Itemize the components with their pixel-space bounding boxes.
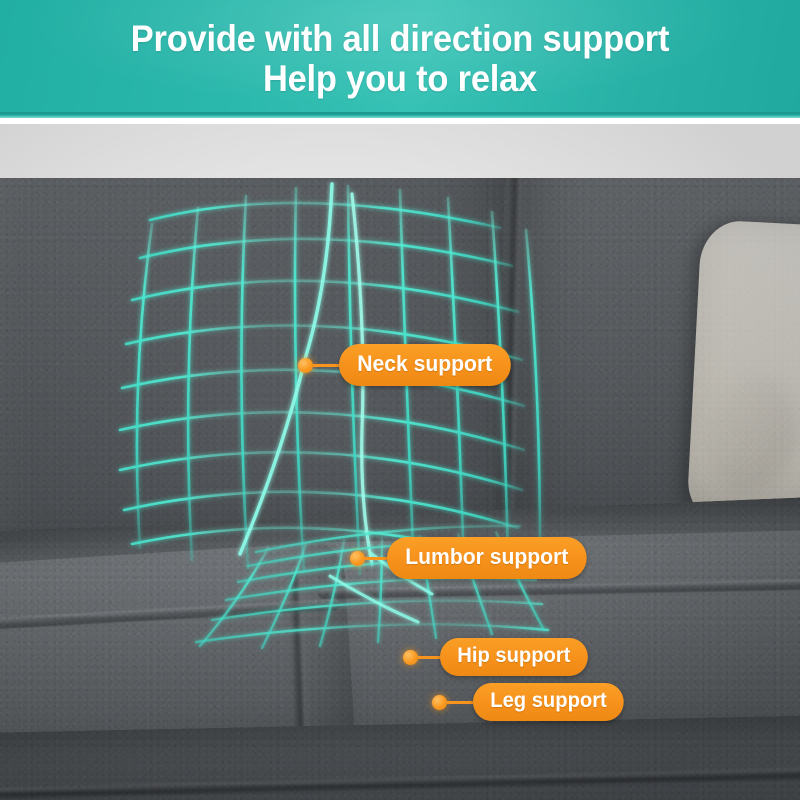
callout-leader-line: [418, 656, 440, 659]
banner-underline-rule: [0, 112, 800, 118]
callout-lumbor-support[interactable]: Lumbor support: [350, 537, 595, 579]
callout-dot-icon: [403, 650, 418, 665]
product-photo: Neck support Lumbor support Hip support …: [0, 124, 800, 800]
callout-label-leg-support[interactable]: Leg support: [473, 683, 624, 721]
callout-neck-support[interactable]: Neck support: [298, 344, 518, 386]
callout-label-neck-support[interactable]: Neck support: [339, 344, 510, 386]
callout-leader-line: [313, 364, 339, 367]
callout-leader-line: [447, 701, 473, 704]
photo-top-white-band: [0, 124, 800, 178]
callout-hip-support[interactable]: Hip support: [403, 638, 594, 676]
callout-dot-icon: [432, 695, 447, 710]
callout-dot-icon: [350, 551, 365, 566]
promo-image-root: Provide with all direction support Help …: [0, 0, 800, 800]
callout-label-lumbor-support[interactable]: Lumbor support: [387, 537, 587, 579]
callout-label-hip-support[interactable]: Hip support: [440, 638, 588, 676]
header-banner: Provide with all direction support Help …: [0, 0, 800, 118]
callout-dot-icon: [298, 358, 313, 373]
banner-headline-line-2: Help you to relax: [28, 58, 772, 100]
sofa-scene: Neck support Lumbor support Hip support …: [0, 124, 800, 800]
callout-leader-line: [365, 557, 387, 560]
banner-headline-line-1: Provide with all direction support: [28, 18, 772, 60]
callout-leg-support[interactable]: Leg support: [432, 683, 630, 721]
